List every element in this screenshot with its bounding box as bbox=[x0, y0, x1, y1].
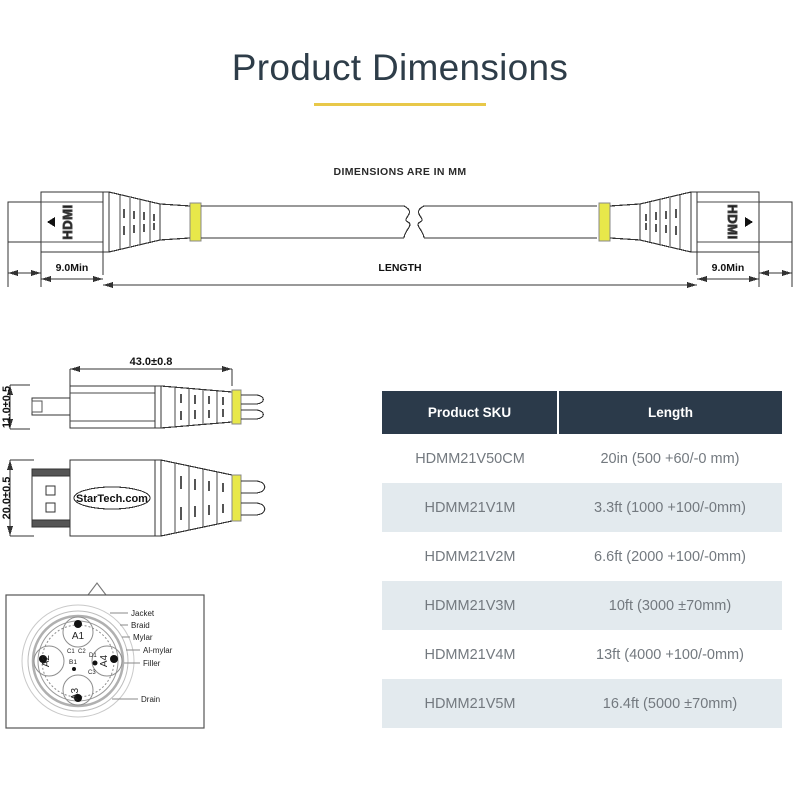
cell-length: 6.6ft (2000 +100/-0mm) bbox=[558, 532, 782, 581]
cross-section-label-filler: Filler bbox=[143, 659, 161, 668]
cable-length-label: LENGTH bbox=[378, 262, 421, 274]
cross-section-label-drain: Drain bbox=[141, 695, 160, 704]
product-dimensions-page: Product Dimensions DIMENSIONS ARE IN MM bbox=[0, 0, 800, 800]
side-view-height-dimension: 11.0±0.5 bbox=[1, 386, 13, 428]
cable-cross-section-drawing: Jacket Braid Mylar Al-mylar Filler Drain… bbox=[0, 573, 210, 733]
cross-section-label-braid: Braid bbox=[131, 621, 150, 630]
cell-length: 20in (500 +60/-0 mm) bbox=[558, 434, 782, 483]
cell-length: 16.4ft (5000 ±70mm) bbox=[558, 679, 782, 728]
startech-logo-text: StarTech.com bbox=[76, 493, 148, 505]
table-header: Product SKU Length bbox=[382, 391, 782, 434]
conductor-label-a2: A2 bbox=[41, 654, 52, 667]
table-header-row: Product SKU Length bbox=[382, 391, 782, 434]
conductor-label-b1: B1 bbox=[69, 659, 77, 666]
page-title: Product Dimensions bbox=[0, 48, 800, 89]
left-connector-dimension-label: 9.0Min bbox=[56, 262, 89, 274]
cell-sku: HDMM21V5M bbox=[382, 679, 558, 728]
cell-sku: HDMM21V50CM bbox=[382, 434, 558, 483]
side-view-length-dimension: 43.0±0.8 bbox=[130, 356, 173, 368]
product-spec-table: Product SKU Length HDMM21V50CM 20in (500… bbox=[382, 391, 782, 728]
cable-full-view-drawing: HDMI bbox=[0, 175, 800, 290]
right-connector-dimension-label: 9.0Min bbox=[712, 262, 745, 274]
cell-sku: HDMM21V3M bbox=[382, 581, 558, 630]
conductor-label-a4: A4 bbox=[99, 654, 110, 667]
table-row: HDMM21V1M 3.3ft (1000 +100/-0mm) bbox=[382, 483, 782, 532]
cross-section-label-jacket: Jacket bbox=[131, 609, 155, 618]
column-header-length: Length bbox=[558, 391, 782, 434]
table-row: HDMM21V50CM 20in (500 +60/-0 mm) bbox=[382, 434, 782, 483]
cell-length: 10ft (3000 ±70mm) bbox=[558, 581, 782, 630]
table-row: HDMM21V4M 13ft (4000 +100/-0mm) bbox=[382, 630, 782, 679]
conductor-label-c1: C1 bbox=[67, 649, 75, 655]
connector-side-view-drawing: 43.0±0.8 11.0±0.5 bbox=[0, 352, 300, 447]
table-row: HDMM21V3M 10ft (3000 ±70mm) bbox=[382, 581, 782, 630]
cell-sku: HDMM21V1M bbox=[382, 483, 558, 532]
cross-section-label-al-mylar: Al-mylar bbox=[143, 646, 173, 655]
conductor-label-d1: D1 bbox=[89, 653, 97, 659]
table-body: HDMM21V50CM 20in (500 +60/-0 mm) HDMM21V… bbox=[382, 434, 782, 728]
hdmi-brand-text-right: HDMI bbox=[725, 204, 740, 239]
cell-length: 13ft (4000 +100/-0mm) bbox=[558, 630, 782, 679]
cell-sku: HDMM21V2M bbox=[382, 532, 558, 581]
conductor-label-a3: A3 bbox=[70, 687, 81, 700]
cell-length: 3.3ft (1000 +100/-0mm) bbox=[558, 483, 782, 532]
column-header-sku: Product SKU bbox=[382, 391, 558, 434]
table-row: HDMM21V2M 6.6ft (2000 +100/-0mm) bbox=[382, 532, 782, 581]
top-view-width-dimension: 20.0±0.5 bbox=[1, 477, 13, 520]
hdmi-brand-text-left: HDMI bbox=[60, 204, 75, 239]
cell-sku: HDMM21V4M bbox=[382, 630, 558, 679]
connector-top-view-drawing: 20.0±0.5 StarTech.com bbox=[0, 443, 300, 553]
table-row: HDMM21V5M 16.4ft (5000 ±70mm) bbox=[382, 679, 782, 728]
conductor-label-c2: C2 bbox=[78, 649, 86, 655]
cross-section-label-mylar: Mylar bbox=[133, 633, 153, 642]
title-accent-underline bbox=[314, 103, 486, 106]
title-block: Product Dimensions bbox=[0, 48, 800, 106]
conductor-label-c3: C3 bbox=[88, 670, 96, 676]
conductor-label-a1: A1 bbox=[72, 631, 85, 642]
